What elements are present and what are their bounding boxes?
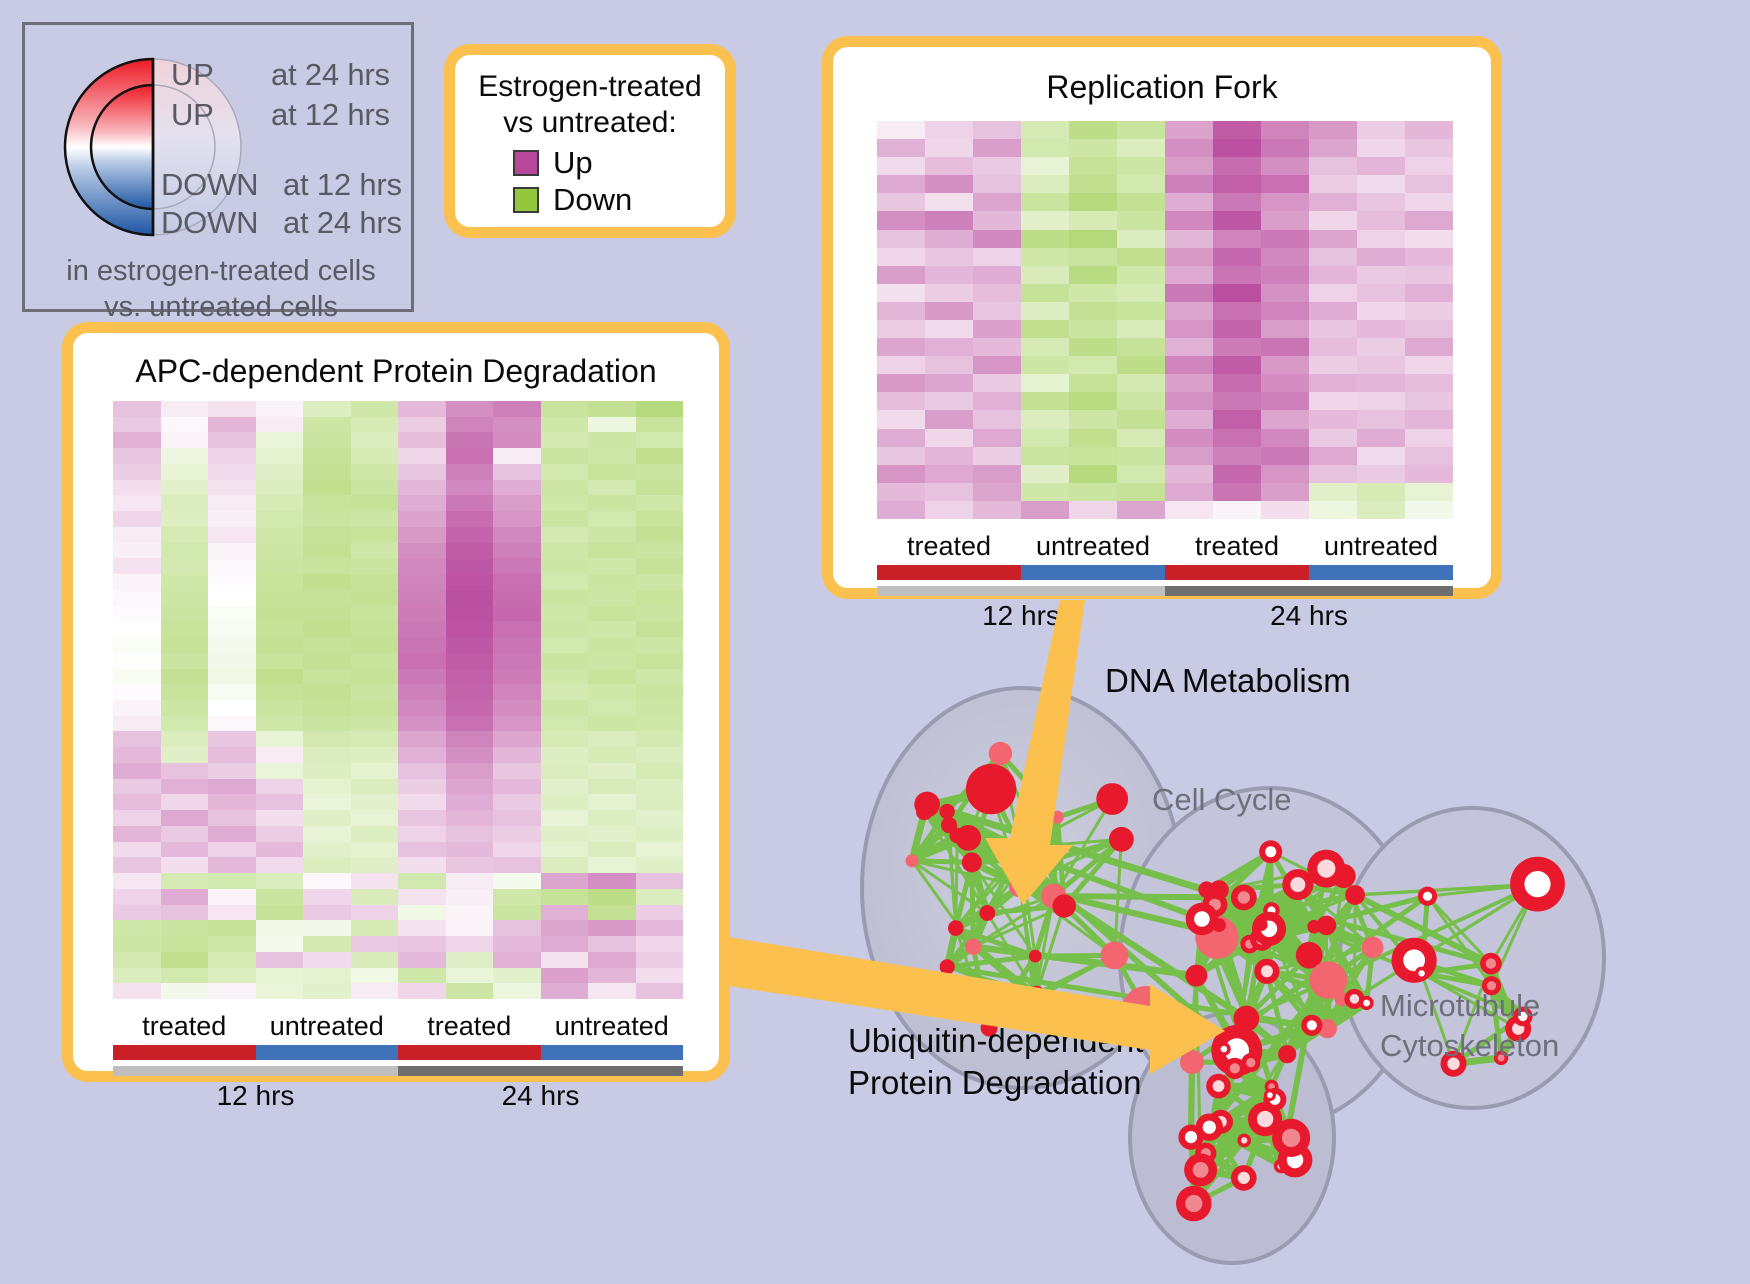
heatmap-cell: [113, 700, 161, 716]
heatmap-cell: [303, 716, 351, 732]
heatmap-cell: [541, 983, 589, 999]
heatmap-cell: [208, 669, 256, 685]
heatmap-cell: [1117, 266, 1165, 284]
heatmap-cell: [303, 731, 351, 747]
heatmap-cell: [636, 543, 684, 559]
heatmap-cell: [1021, 175, 1069, 193]
network-graph: [800, 618, 1750, 1279]
heatmap-cell: [1309, 266, 1357, 284]
rf-bar-12hrs: [877, 586, 1165, 596]
heatmap-cell: [398, 810, 446, 826]
heatmap-cell: [446, 794, 494, 810]
ring-time-down-12: at 12 hrs: [283, 167, 402, 203]
heatmap-cell: [1405, 392, 1453, 410]
heatmap-cell: [351, 574, 399, 590]
heatmap-cell: [161, 653, 209, 669]
heatmap-cell: [256, 606, 304, 622]
heatmap-cell: [636, 606, 684, 622]
heatmap-cell: [398, 401, 446, 417]
heatmap-cell: [446, 763, 494, 779]
heatmap-cell: [1261, 157, 1309, 175]
network-node-core: [1203, 1121, 1216, 1134]
heatmap-cell: [113, 731, 161, 747]
heatmap-cell: [446, 905, 494, 921]
heatmap-cell: [1165, 356, 1213, 374]
heatmap-cell: [1117, 139, 1165, 157]
heatmap-cell: [161, 794, 209, 810]
apc-group-label-4: untreated: [541, 1011, 684, 1042]
heatmap-cell: [1069, 157, 1117, 175]
heatmap-cell: [303, 558, 351, 574]
heatmap-cell: [351, 527, 399, 543]
heatmap-cell: [973, 211, 1021, 229]
heatmap-cell: [1357, 392, 1405, 410]
heatmap-cell: [398, 574, 446, 590]
heatmap-cell: [588, 480, 636, 496]
heatmap-cell: [1165, 175, 1213, 193]
heatmap-cell: [351, 747, 399, 763]
heatmap-cell: [925, 211, 973, 229]
replication-fork-axis: treated untreated treated untreated 12 h…: [877, 531, 1453, 632]
heatmap-cell: [973, 121, 1021, 139]
heatmap-cell: [446, 779, 494, 795]
heatmap-cell: [351, 495, 399, 511]
heatmap-cell: [446, 669, 494, 685]
heatmap-cell: [973, 139, 1021, 157]
heatmap-cell: [1261, 320, 1309, 338]
apc-bar-12hrs: [113, 1066, 398, 1076]
heatmap-cell: [1261, 392, 1309, 410]
rf-treatment-bar: [877, 565, 1453, 580]
heatmap-cell: [636, 401, 684, 417]
network-node: [1317, 916, 1337, 936]
heatmap-cell: [1405, 447, 1453, 465]
heatmap-cell: [493, 952, 541, 968]
heatmap-cell: [351, 826, 399, 842]
heatmap-cell: [161, 779, 209, 795]
ring-label-down-12: DOWN: [161, 167, 258, 203]
heatmap-cell: [113, 810, 161, 826]
network-node: [1180, 1050, 1204, 1074]
heatmap-cell: [351, 417, 399, 433]
heatmap-cell: [1405, 501, 1453, 519]
heatmap-cell: [1309, 429, 1357, 447]
heatmap-cell: [541, 448, 589, 464]
heatmap-cell: [1069, 266, 1117, 284]
heatmap-cell: [588, 653, 636, 669]
network-node-core: [1246, 1058, 1255, 1067]
heatmap-cell: [1021, 501, 1069, 519]
heatmap-cell: [1117, 193, 1165, 211]
heatmap-cell: [973, 356, 1021, 374]
heatmap-cell: [588, 621, 636, 637]
heatmap-cell: [1261, 248, 1309, 266]
heatmap-cell: [1117, 356, 1165, 374]
apc-treatment-bar: [113, 1045, 683, 1060]
heatmap-cell: [1309, 157, 1357, 175]
heatmap-cell: [973, 501, 1021, 519]
heatmap-cell: [398, 794, 446, 810]
heatmap-cell: [113, 936, 161, 952]
heatmap-cell: [973, 284, 1021, 302]
heatmap-cell: [925, 302, 973, 320]
network-node: [1198, 881, 1215, 898]
heatmap-cell: [877, 175, 925, 193]
heatmap-cell: [208, 731, 256, 747]
heatmap-cell: [1357, 429, 1405, 447]
heatmap-cell: [588, 952, 636, 968]
heatmap-cell: [208, 826, 256, 842]
heatmap-cell: [588, 527, 636, 543]
heatmap-cell: [588, 731, 636, 747]
heatmap-cell: [113, 794, 161, 810]
heatmap-cell: [1309, 447, 1357, 465]
key-item-up: Up: [513, 147, 725, 178]
heatmap-cell: [588, 432, 636, 448]
heatmap-cell: [973, 429, 1021, 447]
heatmap-cell: [1021, 320, 1069, 338]
network-node-core: [1185, 1195, 1202, 1212]
heatmap-cell: [1261, 284, 1309, 302]
heatmap-cell: [351, 716, 399, 732]
heatmap-cell: [351, 669, 399, 685]
heatmap-cell: [303, 968, 351, 984]
network-node-core: [1267, 1092, 1273, 1098]
heatmap-cell: [208, 968, 256, 984]
heatmap-cell: [208, 480, 256, 496]
network-node: [1040, 855, 1054, 869]
heatmap-cell: [351, 952, 399, 968]
heatmap-cell: [351, 464, 399, 480]
heatmap-cell: [493, 448, 541, 464]
heatmap-cell: [1357, 157, 1405, 175]
heatmap-cell: [973, 320, 1021, 338]
heatmap-cell: [446, 558, 494, 574]
heatmap-cell: [1309, 501, 1357, 519]
heatmap-cell: [1309, 121, 1357, 139]
network-node-core: [1317, 860, 1335, 878]
heatmap-cell: [303, 480, 351, 496]
key-heading-line2: vs untreated:: [455, 105, 725, 141]
heatmap-cell: [351, 857, 399, 873]
heatmap-cell: [446, 527, 494, 543]
heatmap-cell: [588, 968, 636, 984]
heatmap-cell: [303, 873, 351, 889]
heatmap-cell: [256, 574, 304, 590]
heatmap-cell: [636, 779, 684, 795]
heatmap-cell: [541, 889, 589, 905]
heatmap-cell: [1213, 121, 1261, 139]
heatmap-cell: [256, 637, 304, 653]
heatmap-cell: [161, 558, 209, 574]
heatmap-cell: [1069, 284, 1117, 302]
heatmap-cell: [161, 590, 209, 606]
heatmap-cell: [1309, 392, 1357, 410]
heatmap-cell: [973, 193, 1021, 211]
heatmap-cell: [925, 284, 973, 302]
apc-heatmap: [113, 401, 683, 999]
heatmap-cell: [588, 401, 636, 417]
apc-time-label-24: 24 hrs: [398, 1080, 683, 1112]
heatmap-cell: [541, 779, 589, 795]
heatmap-cell: [256, 669, 304, 685]
rf-group-label-2: untreated: [1021, 531, 1165, 562]
heatmap-cell: [588, 558, 636, 574]
network-node: [965, 939, 981, 955]
heatmap-cell: [113, 432, 161, 448]
heatmap-cell: [636, 731, 684, 747]
heatmap-cell: [208, 763, 256, 779]
network-node: [1096, 783, 1128, 815]
heatmap-cell: [303, 920, 351, 936]
heatmap-cell: [1069, 356, 1117, 374]
heatmap-cell: [877, 429, 925, 447]
rf-bar-treated-2: [1165, 565, 1309, 580]
heatmap-cell: [446, 968, 494, 984]
heatmap-cell: [1261, 374, 1309, 392]
heatmap-cell: [113, 905, 161, 921]
heatmap-cell: [493, 637, 541, 653]
heatmap-cell: [351, 731, 399, 747]
heatmap-cell: [1165, 447, 1213, 465]
ring-footer-line1: in estrogen-treated cells: [25, 253, 417, 289]
ubiquitin-line2: Protein Degradation: [848, 1062, 1143, 1104]
heatmap-cell: [1309, 230, 1357, 248]
heatmap-cell: [636, 669, 684, 685]
heatmap-cell: [1261, 211, 1309, 229]
network-node: [962, 852, 982, 872]
replication-fork-panel: Replication Fork treated untreated treat…: [822, 36, 1502, 599]
heatmap-cell: [208, 857, 256, 873]
heatmap-cell: [1117, 465, 1165, 483]
heatmap-cell: [256, 920, 304, 936]
heatmap-cell: [1357, 302, 1405, 320]
heatmap-cell: [398, 873, 446, 889]
heatmap-cell: [1405, 175, 1453, 193]
network-node: [1051, 811, 1064, 824]
heatmap-cell: [636, 905, 684, 921]
heatmap-cell: [351, 511, 399, 527]
heatmap-cell: [636, 810, 684, 826]
heatmap-cell: [398, 842, 446, 858]
heatmap-cell: [1165, 193, 1213, 211]
heatmap-cell: [208, 527, 256, 543]
apc-time-bar: [113, 1066, 683, 1076]
heatmap-cell: [303, 936, 351, 952]
heatmap-cell: [303, 637, 351, 653]
heatmap-cell: [256, 558, 304, 574]
heatmap-cell: [256, 716, 304, 732]
heatmap-cell: [113, 495, 161, 511]
heatmap-cell: [1213, 193, 1261, 211]
heatmap-cell: [1165, 248, 1213, 266]
network-node: [989, 742, 1012, 765]
heatmap-cell: [303, 700, 351, 716]
heatmap-cell: [1213, 429, 1261, 447]
heatmap-cell: [398, 495, 446, 511]
heatmap-cell: [398, 590, 446, 606]
heatmap-cell: [398, 763, 446, 779]
heatmap-cell: [113, 952, 161, 968]
heatmap-cell: [1117, 392, 1165, 410]
heatmap-cell: [303, 448, 351, 464]
heatmap-cell: [1261, 429, 1309, 447]
heatmap-cell: [1213, 266, 1261, 284]
heatmap-cell: [113, 684, 161, 700]
heatmap-cell: [1117, 175, 1165, 193]
cluster-label-cell-cycle: Cell Cycle: [1152, 782, 1292, 818]
heatmap-cell: [398, 920, 446, 936]
heatmap-cell: [398, 653, 446, 669]
heatmap-cell: [493, 432, 541, 448]
heatmap-cell: [1213, 356, 1261, 374]
heatmap-cell: [208, 684, 256, 700]
heatmap-cell: [493, 543, 541, 559]
heatmap-cell: [303, 669, 351, 685]
heatmap-cell: [1165, 266, 1213, 284]
heatmap-cell: [398, 480, 446, 496]
heatmap-cell: [256, 684, 304, 700]
apc-bar-treated-2: [398, 1045, 541, 1060]
heatmap-cell: [398, 464, 446, 480]
heatmap-cell: [541, 621, 589, 637]
heatmap-cell: [208, 779, 256, 795]
heatmap-cell: [1309, 302, 1357, 320]
heatmap-cell: [1117, 302, 1165, 320]
heatmap-cell: [636, 842, 684, 858]
heatmap-cell: [303, 417, 351, 433]
updown-key-panel: Estrogen-treated vs untreated: Up Down: [444, 44, 736, 238]
heatmap-cell: [925, 501, 973, 519]
heatmap-cell: [113, 763, 161, 779]
network-node-core: [1418, 970, 1424, 976]
up-label: Up: [553, 147, 593, 178]
heatmap-cell: [925, 320, 973, 338]
heatmap-cell: [877, 410, 925, 428]
heatmap-cell: [1165, 121, 1213, 139]
heatmap-cell: [208, 574, 256, 590]
heatmap-cell: [303, 574, 351, 590]
heatmap-cell: [398, 747, 446, 763]
heatmap-cell: [973, 392, 1021, 410]
heatmap-cell: [208, 920, 256, 936]
apc-time-labels: 12 hrs 24 hrs: [113, 1080, 683, 1112]
heatmap-cell: [351, 401, 399, 417]
heatmap-cell: [446, 716, 494, 732]
heatmap-cell: [161, 621, 209, 637]
heatmap-cell: [1309, 338, 1357, 356]
heatmap-cell: [351, 700, 399, 716]
heatmap-cell: [1117, 429, 1165, 447]
heatmap-cell: [1069, 429, 1117, 447]
heatmap-cell: [351, 432, 399, 448]
heatmap-cell: [973, 483, 1021, 501]
heatmap-cell: [208, 543, 256, 559]
heatmap-cell: [398, 432, 446, 448]
heatmap-cell: [256, 857, 304, 873]
heatmap-cell: [446, 731, 494, 747]
heatmap-cell: [351, 983, 399, 999]
heatmap-cell: [1213, 230, 1261, 248]
heatmap-cell: [351, 543, 399, 559]
rf-bar-untreated-2: [1309, 565, 1453, 580]
heatmap-cell: [541, 747, 589, 763]
heatmap-cell: [493, 779, 541, 795]
heatmap-cell: [113, 968, 161, 984]
heatmap-cell: [1309, 211, 1357, 229]
heatmap-cell: [303, 826, 351, 842]
heatmap-cell: [1309, 193, 1357, 211]
network-node: [1278, 1045, 1296, 1063]
heatmap-cell: [493, 464, 541, 480]
ubiquitin-line1: Ubiquitin-dependent: [848, 1020, 1143, 1062]
network-node: [1014, 851, 1028, 865]
heatmap-cell: [208, 606, 256, 622]
heatmap-cell: [1021, 193, 1069, 211]
heatmap-cell: [256, 480, 304, 496]
heatmap-cell: [1165, 392, 1213, 410]
rf-group-label-4: untreated: [1309, 531, 1453, 562]
heatmap-cell: [1261, 501, 1309, 519]
heatmap-cell: [303, 794, 351, 810]
heatmap-cell: [588, 495, 636, 511]
heatmap-cell: [161, 952, 209, 968]
network-node-core: [1307, 1020, 1317, 1030]
heatmap-cell: [541, 511, 589, 527]
heatmap-cell: [877, 338, 925, 356]
heatmap-cell: [588, 700, 636, 716]
heatmap-cell: [925, 139, 973, 157]
heatmap-cell: [161, 920, 209, 936]
heatmap-cell: [161, 700, 209, 716]
heatmap-cell: [1021, 121, 1069, 139]
heatmap-cell: [208, 952, 256, 968]
apc-treatment-labels: treated untreated treated untreated: [113, 1011, 683, 1042]
heatmap-cell: [973, 374, 1021, 392]
heatmap-cell: [541, 417, 589, 433]
heatmap-cell: [493, 700, 541, 716]
heatmap-cell: [1069, 121, 1117, 139]
network-node: [1362, 937, 1384, 959]
heatmap-cell: [973, 230, 1021, 248]
heatmap-cell: [1069, 447, 1117, 465]
network-node: [979, 905, 995, 921]
heatmap-cell: [1405, 356, 1453, 374]
heatmap-cell: [1213, 465, 1261, 483]
heatmap-cell: [303, 905, 351, 921]
heatmap-cell: [1069, 139, 1117, 157]
heatmap-cell: [113, 448, 161, 464]
heatmap-cell: [1405, 284, 1453, 302]
heatmap-cell: [1405, 338, 1453, 356]
ring-legend-labels: UP at 24 hrs UP at 12 hrs DOWN at 12 hrs…: [25, 25, 417, 255]
heatmap-cell: [256, 511, 304, 527]
network-node-core: [1230, 1063, 1240, 1073]
heatmap-cell: [1405, 121, 1453, 139]
heatmap-cell: [493, 590, 541, 606]
heatmap-cell: [588, 684, 636, 700]
heatmap-cell: [1069, 501, 1117, 519]
heatmap-cell: [877, 374, 925, 392]
network-node: [1185, 965, 1207, 987]
heatmap-cell: [1357, 284, 1405, 302]
heatmap-cell: [161, 432, 209, 448]
heatmap-cell: [1213, 302, 1261, 320]
heatmap-cell: [925, 374, 973, 392]
heatmap-cell: [925, 410, 973, 428]
network-node: [1310, 961, 1348, 999]
heatmap-cell: [1213, 248, 1261, 266]
